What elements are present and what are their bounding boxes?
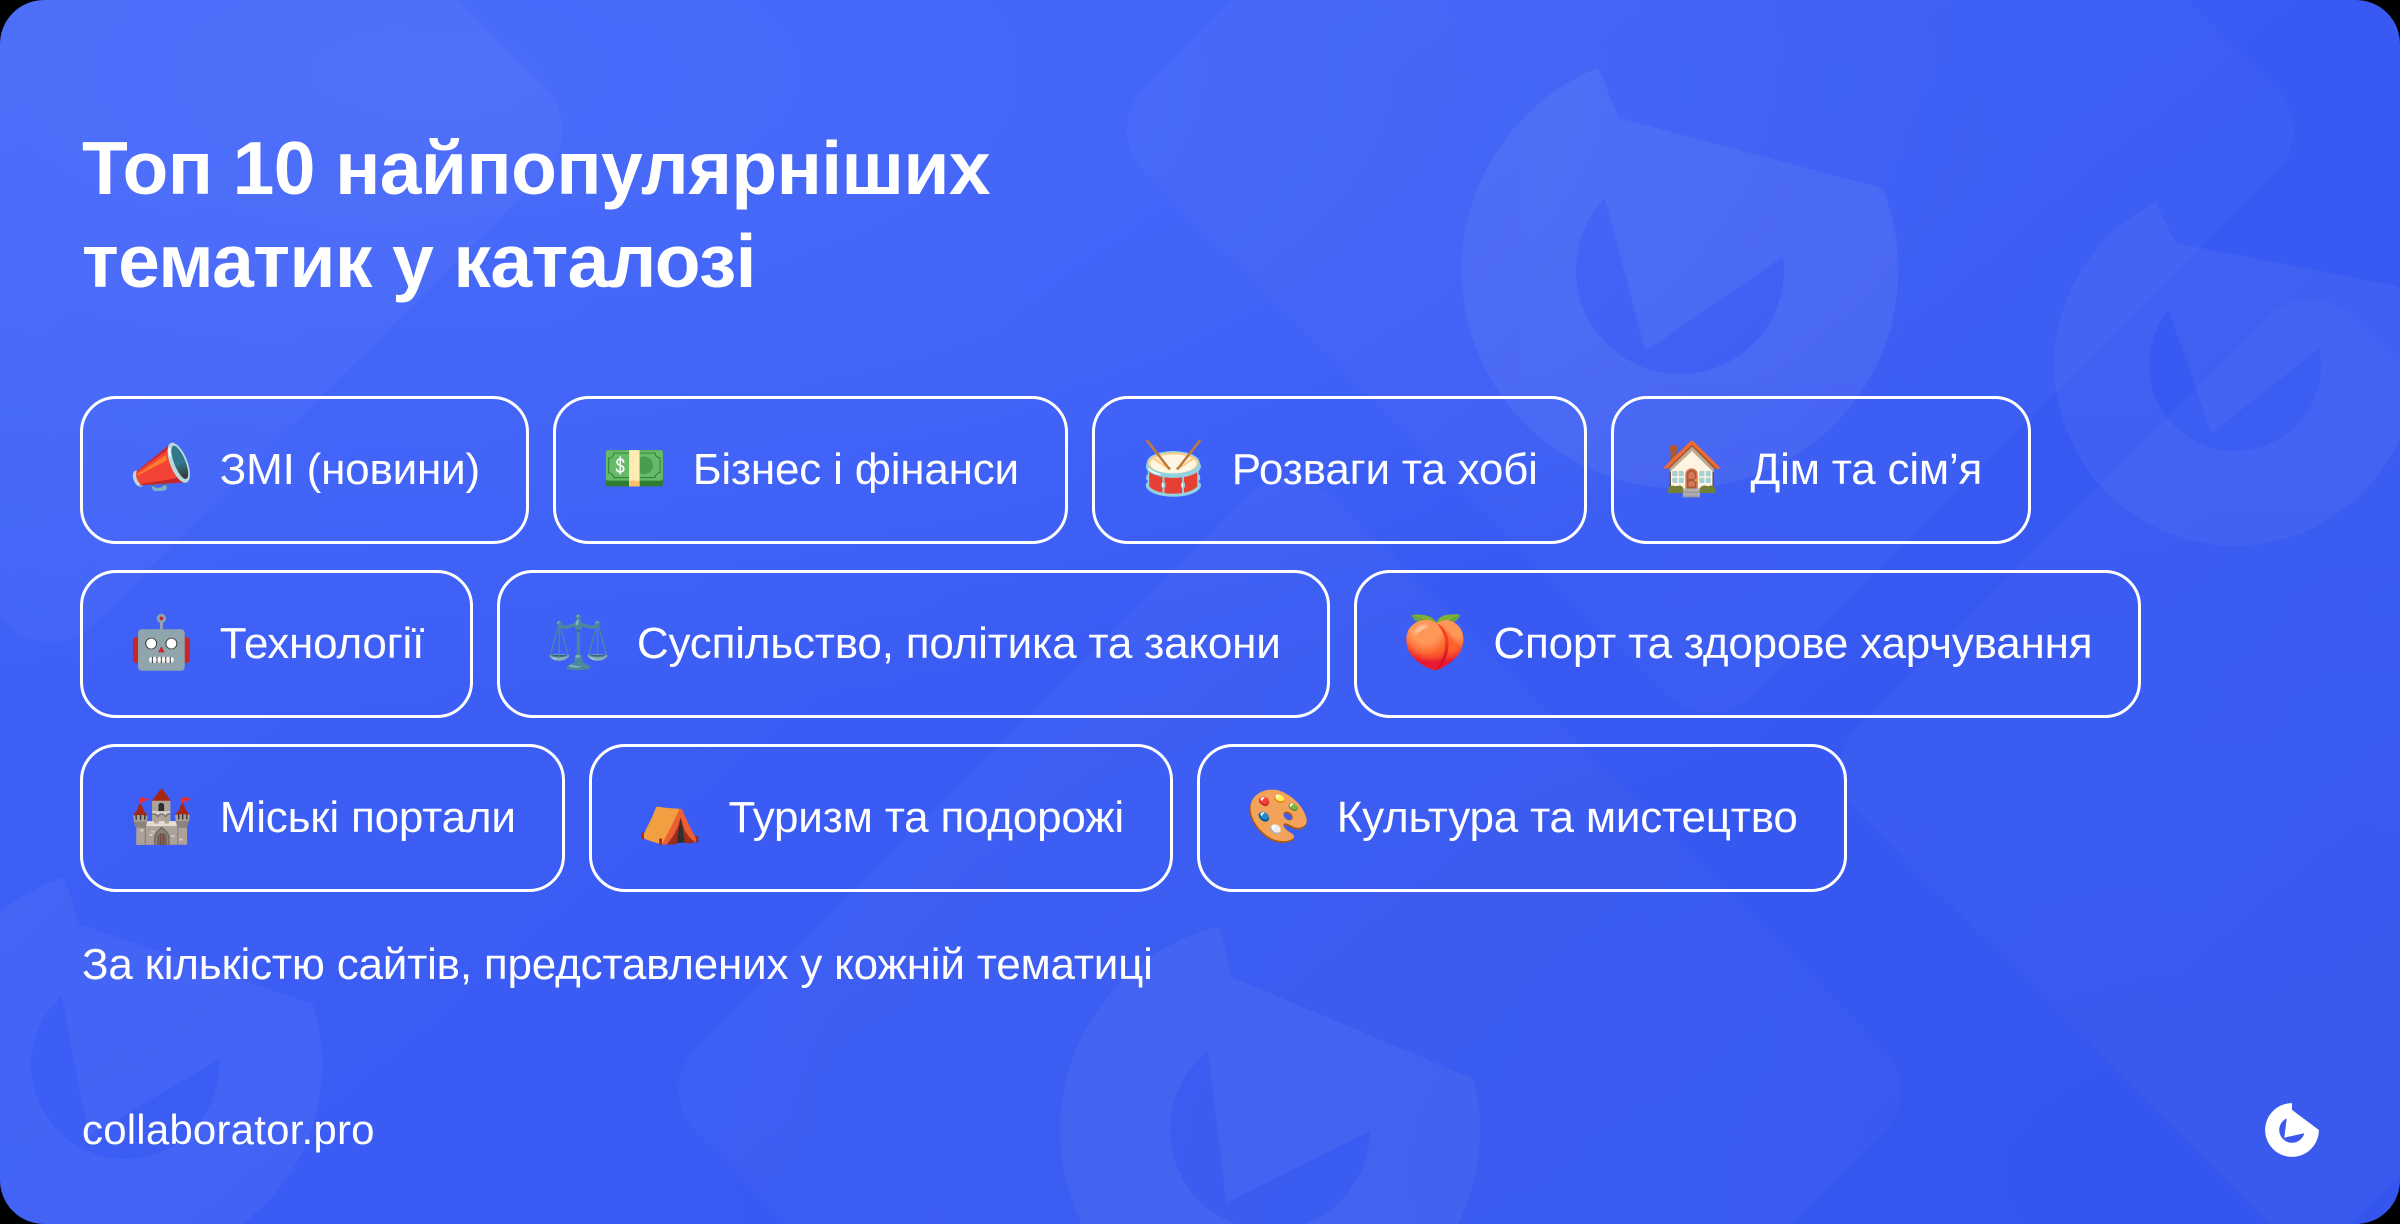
topic-chip-label: Туризм та подорожі bbox=[728, 796, 1124, 840]
tent-icon: ⛺ bbox=[638, 791, 703, 843]
megaphone-icon: 📣 bbox=[129, 443, 194, 495]
topic-chip-label: Культура та мистецтво bbox=[1337, 796, 1798, 840]
watermark-logo-bottom-center bbox=[1020, 880, 1520, 1224]
balance-scale-icon: ⚖️ bbox=[546, 617, 611, 669]
topic-chip[interactable]: 🏠 Дім та сім’я bbox=[1611, 396, 2031, 544]
topic-chip-label: ЗМІ (новини) bbox=[220, 448, 480, 492]
artist-palette-icon: 🎨 bbox=[1246, 791, 1311, 843]
peach-icon: 🍑 bbox=[1403, 617, 1468, 669]
topic-chip-label: Технології bbox=[220, 622, 424, 666]
house-icon: 🏠 bbox=[1660, 443, 1725, 495]
topic-chip-label: Бізнес і фінанси bbox=[693, 448, 1019, 492]
topic-chip[interactable]: 💵 Бізнес і фінанси bbox=[553, 396, 1068, 544]
banknote-icon: 💵 bbox=[602, 443, 667, 495]
drum-icon: 🥁 bbox=[1141, 443, 1206, 495]
topic-chip-label: Спорт та здорове харчування bbox=[1493, 622, 2092, 666]
topic-chip-grid: 📣 ЗМІ (новини) 💵 Бізнес і фінанси 🥁 Розв… bbox=[80, 396, 2330, 918]
robot-icon: 🤖 bbox=[129, 617, 194, 669]
topic-chip[interactable]: ⚖️ Суспільство, політика та закони bbox=[497, 570, 1330, 718]
topic-chip-label: Дім та сім’я bbox=[1751, 448, 1983, 492]
topic-chip[interactable]: 📣 ЗМІ (новини) bbox=[80, 396, 529, 544]
topic-row-1: 📣 ЗМІ (новини) 💵 Бізнес і фінанси 🥁 Розв… bbox=[80, 396, 2330, 544]
topic-chip[interactable]: 🎨 Культура та мистецтво bbox=[1197, 744, 1847, 892]
topic-chip-label: Суспільство, політика та закони bbox=[637, 622, 1281, 666]
topic-chip[interactable]: 🍑 Спорт та здорове харчування bbox=[1354, 570, 2142, 718]
topic-chip[interactable]: ⛺ Туризм та подорожі bbox=[589, 744, 1173, 892]
screenshot-stage: Топ 10 найпопулярніших тематик у каталоз… bbox=[0, 0, 2400, 1224]
caption-text: За кількістю сайтів, представлених у кож… bbox=[82, 940, 1153, 990]
collaborator-logo-icon bbox=[2260, 1098, 2324, 1162]
footer-website-url[interactable]: collaborator.pro bbox=[82, 1106, 375, 1154]
topic-chip[interactable]: 🥁 Розваги та хобі bbox=[1092, 396, 1587, 544]
topic-chip-label: Міські портали bbox=[220, 796, 516, 840]
topic-row-3: 🏰 Міські портали ⛺ Туризм та подорожі 🎨 … bbox=[80, 744, 2330, 892]
promo-card: Топ 10 найпопулярніших тематик у каталоз… bbox=[0, 0, 2400, 1224]
topic-row-2: 🤖 Технології ⚖️ Суспільство, політика та… bbox=[80, 570, 2330, 718]
topic-chip-label: Розваги та хобі bbox=[1232, 448, 1538, 492]
topic-chip[interactable]: 🤖 Технології bbox=[80, 570, 473, 718]
page-title: Топ 10 найпопулярніших тематик у каталоз… bbox=[82, 122, 1482, 307]
topic-chip[interactable]: 🏰 Міські портали bbox=[80, 744, 565, 892]
castle-icon: 🏰 bbox=[129, 791, 194, 843]
